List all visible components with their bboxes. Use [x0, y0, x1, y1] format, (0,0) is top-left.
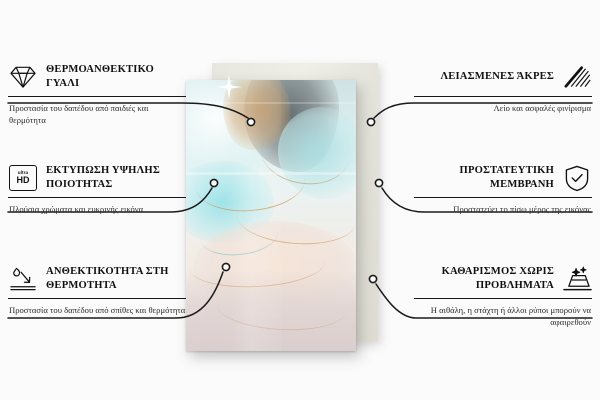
feature-title: ΚΑΘΑΡΙΣΜΟΣ ΧΩΡΙΣ ΠΡΟΒΛΗΜΑΤΑ — [414, 265, 554, 293]
feature-body: Προστασία του δαπέδου από παιδιές και θε… — [8, 102, 186, 126]
glass-reflection-line — [186, 172, 356, 175]
ultra-hd-badge-icon: ultra HD — [8, 163, 38, 193]
divider — [414, 197, 592, 198]
divider — [8, 298, 186, 299]
diamond-icon — [8, 62, 38, 92]
feature-heat-resistant-glass: ΘΕΡΜΟΑΝΘΕΚΤΙΚΟ ΓΥΑΛΙ Προστασία του δαπέδ… — [8, 62, 186, 126]
feature-protective-membrane: ΠΡΟΣΤΑΤΕΥΤΙΚΗ ΜΕΜΒΡΑΝΗ Προστατεύει το πί… — [414, 163, 592, 215]
feature-easy-cleaning: ΚΑΘΑΡΙΣΜΟΣ ΧΩΡΙΣ ΠΡΟΒΛΗΜΑΤΑ Η αιθάλη, η … — [414, 264, 592, 328]
feature-polished-edges: ΛΕΙΑΣΜΕΝΕΣ ΆΚΡΕΣ Λείο και ασφαλές φινίρι… — [414, 62, 592, 114]
feature-body: Προστατεύει το πίσω μέρος της εικόνας — [414, 203, 592, 215]
feature-title: ΕΚΤΥΠΩΣΗ ΥΨΗΛΗΣ ΠΟΙΟΤΗΤΑΣ — [46, 164, 186, 192]
feature-title: ΑΝΘΕΚΤΙΚΟΤΗΤΑ ΣΤΗ ΘΕΡΜΟΤΗΤΑ — [46, 265, 186, 293]
divider — [414, 298, 592, 299]
sparkle-clean-icon — [562, 264, 592, 294]
feature-heat-resistance: ΑΝΘΕΚΤΙΚΟΤΗΤΑ ΣΤΗ ΘΕΡΜΟΤΗΤΑ Προστασία το… — [8, 264, 186, 316]
feature-high-quality-print: ultra HD ΕΚΤΥΠΩΣΗ ΥΨΗΛΗΣ ΠΟΙΟΤΗΤΑΣ Πλούσ… — [8, 163, 186, 215]
bevelled-edges-icon — [562, 62, 592, 92]
feature-body: Λείο και ασφαλές φινίρισμα — [414, 102, 592, 114]
shield-check-icon — [562, 163, 592, 193]
feature-body: Η αιθάλη, η στάχτη ή άλλοι ρύποι μπορούν… — [414, 304, 592, 328]
glass-reflection-band — [230, 80, 281, 351]
divider — [8, 197, 186, 198]
feature-body: Πλούσια χρώματα και ευκρινής εικόνα — [8, 203, 186, 215]
infographic-canvas: ΘΕΡΜΟΑΝΘΕΚΤΙΚΟ ΓΥΑΛΙ Προστασία του δαπέδ… — [0, 0, 600, 400]
flame-deflect-icon — [8, 264, 38, 294]
feature-title: ΛΕΙΑΣΜΕΝΕΣ ΆΚΡΕΣ — [440, 70, 554, 84]
product-image — [186, 63, 386, 351]
glass-reflection-line-top — [186, 102, 356, 104]
divider — [8, 96, 186, 97]
glass-panel — [186, 80, 356, 351]
feature-title: ΠΡΟΣΤΑΤΕΥΤΙΚΗ ΜΕΜΒΡΑΝΗ — [414, 164, 554, 192]
ultra-hd-bottom-label: HD — [17, 176, 30, 185]
feature-title: ΘΕΡΜΟΑΝΘΕΚΤΙΚΟ ΓΥΑΛΙ — [46, 63, 186, 91]
divider — [414, 96, 592, 97]
feature-body: Προστασία του δαπέδου από σπίθες και θερ… — [8, 304, 186, 316]
